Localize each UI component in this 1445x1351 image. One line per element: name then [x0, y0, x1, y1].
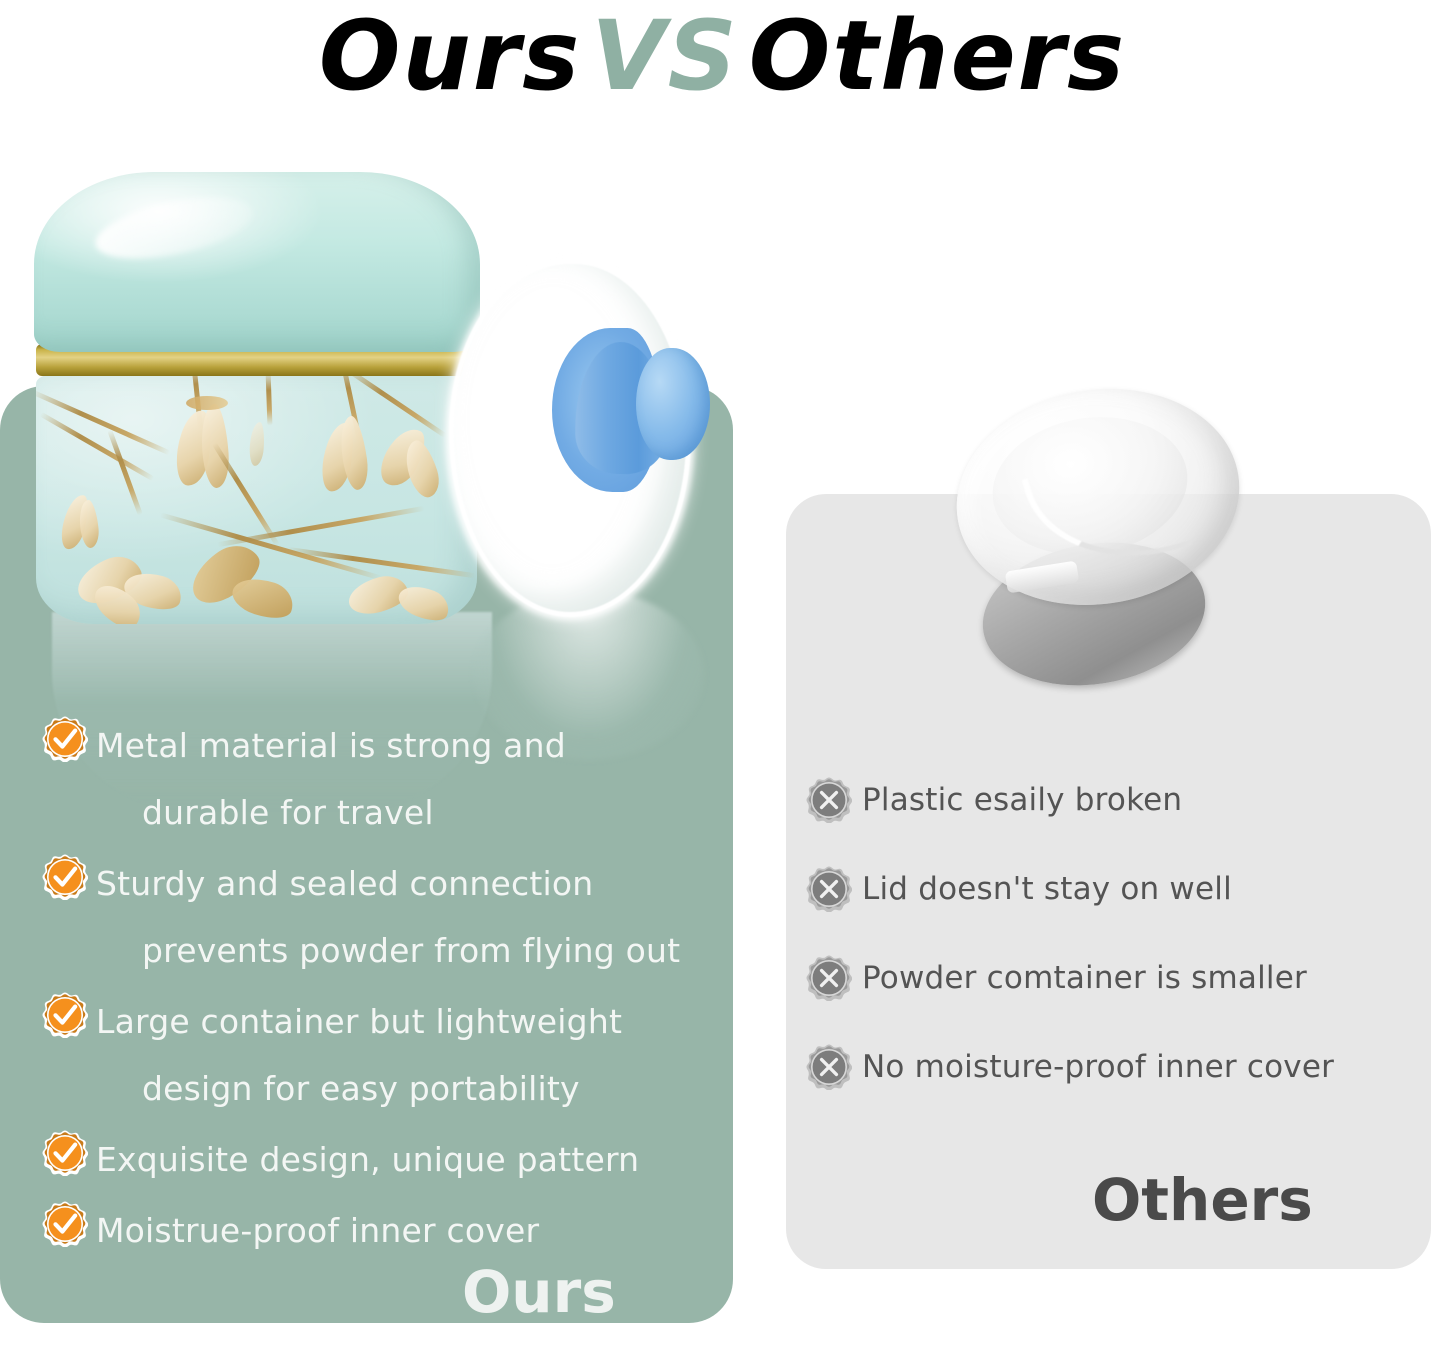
page-title: OursVSOthers — [0, 8, 1445, 104]
cross-badge-icon — [806, 1044, 852, 1090]
list-item-label: Metal material is strong and — [96, 726, 566, 765]
list-item-label-line2: design for easy portability — [142, 1055, 622, 1122]
list-item: No moisture-proof inner cover — [806, 1022, 1426, 1111]
check-badge-icon — [42, 992, 88, 1038]
list-item-label: Exquisite design, unique pattern — [96, 1140, 639, 1179]
puff-handle-cap — [636, 348, 710, 460]
cross-badge-icon — [806, 955, 852, 1001]
list-item-label: Powder comtainer is smaller — [862, 955, 1307, 1001]
title-vs: VS — [591, 0, 738, 112]
ours-feature-list: Metal material is strong and durable for… — [42, 712, 702, 1268]
others-brand-label: Others — [1092, 1166, 1313, 1234]
list-item: Lid doesn't stay on well — [806, 844, 1426, 933]
jar-lid — [34, 172, 480, 352]
list-item: Sturdy and sealed connection prevents po… — [42, 850, 702, 984]
jar-body — [36, 374, 477, 624]
cross-badge-icon — [806, 777, 852, 823]
list-item-label-line2: prevents powder from flying out — [142, 917, 680, 984]
list-item-label-line2: durable for travel — [142, 779, 566, 846]
check-badge-icon — [42, 854, 88, 900]
list-item-label: Sturdy and sealed connection — [96, 864, 593, 903]
others-product-image — [930, 388, 1260, 704]
ours-brand-label: Ours — [462, 1258, 616, 1326]
ours-product-image — [22, 160, 722, 660]
list-item: Powder comtainer is smaller — [806, 933, 1426, 1022]
list-item: Plastic esaily broken — [806, 755, 1426, 844]
comparison-infographic: OursVSOthers — [0, 0, 1445, 1351]
check-badge-icon — [42, 1201, 88, 1247]
check-badge-icon — [42, 1130, 88, 1176]
list-item-label: Large container but lightweight — [96, 1002, 622, 1041]
list-item: Exquisite design, unique pattern — [42, 1126, 702, 1193]
list-item: Large container but lightweight design f… — [42, 988, 702, 1122]
list-item-label: Lid doesn't stay on well — [862, 866, 1232, 912]
others-drawback-list: Plastic esaily broken Lid doesn't stay o… — [806, 755, 1426, 1111]
list-item: Moistrue-proof inner cover — [42, 1197, 702, 1264]
cross-badge-icon — [806, 866, 852, 912]
list-item-label: Plastic esaily broken — [862, 777, 1182, 823]
jar-lid-highlight — [90, 186, 257, 270]
list-item-label: Moistrue-proof inner cover — [96, 1211, 539, 1250]
check-badge-icon — [42, 716, 88, 762]
list-item: Metal material is strong and durable for… — [42, 712, 702, 846]
title-ours: Ours — [319, 0, 581, 112]
list-item-label: No moisture-proof inner cover — [862, 1044, 1334, 1090]
title-others: Others — [749, 0, 1126, 112]
